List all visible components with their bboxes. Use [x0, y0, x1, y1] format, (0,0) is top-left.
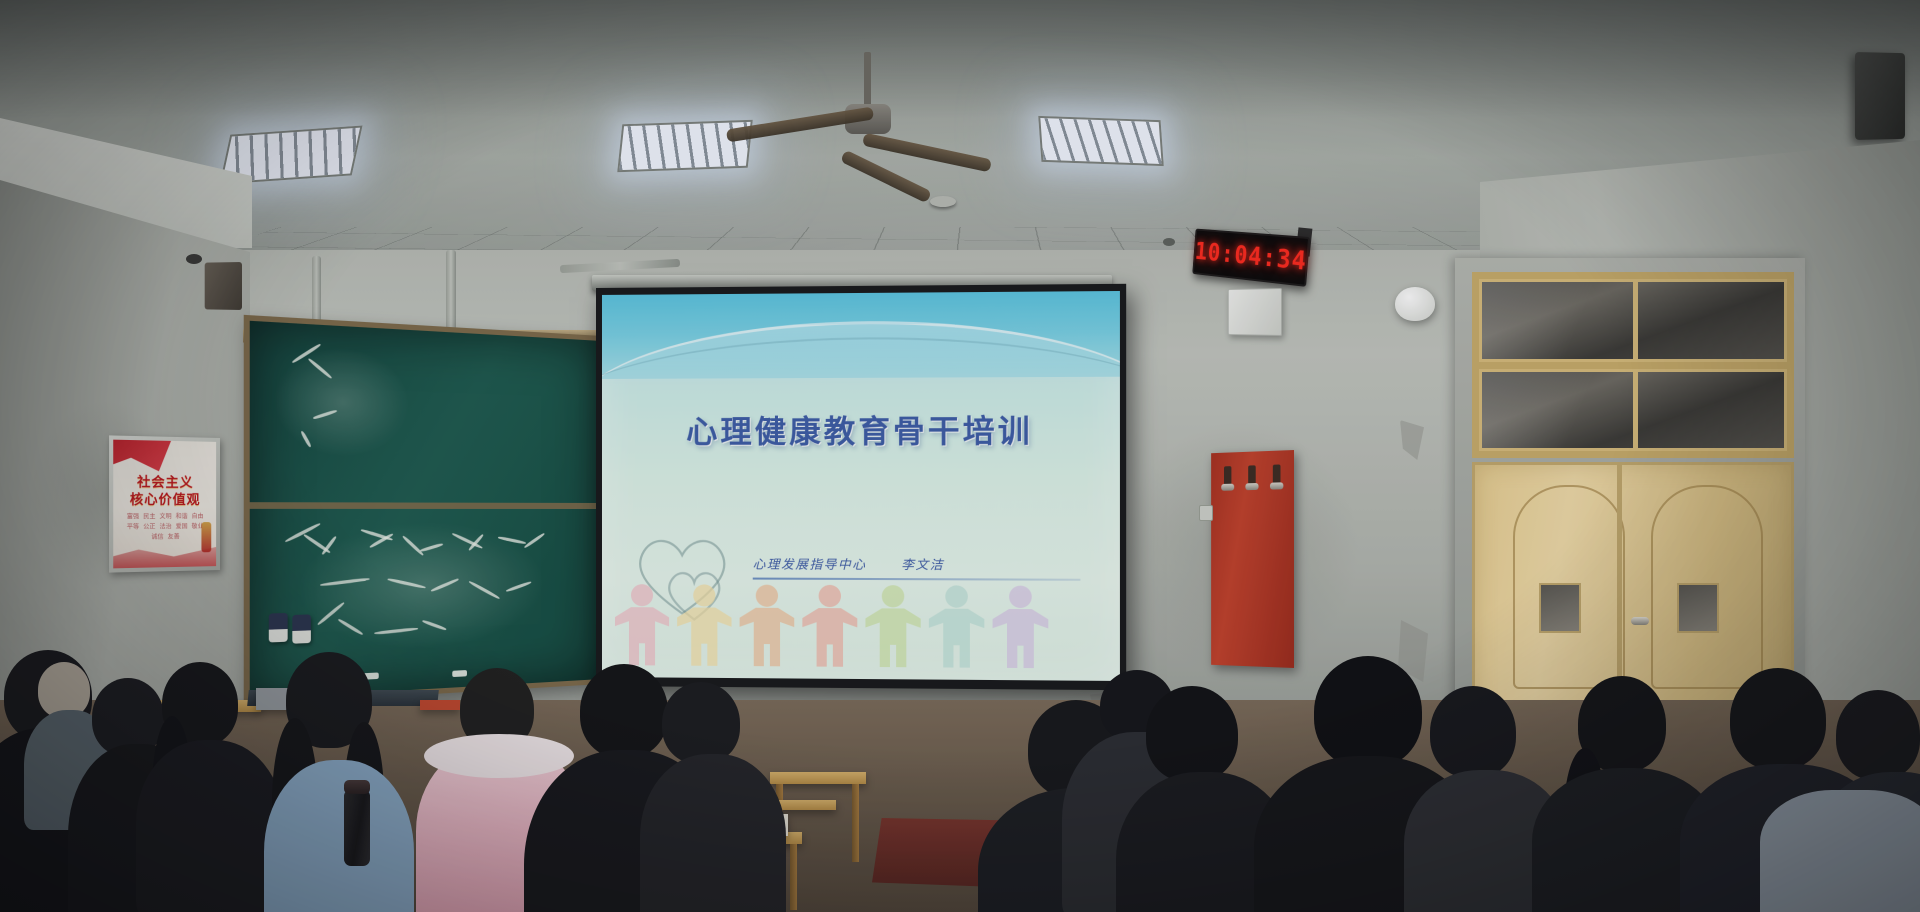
paper-doll — [612, 581, 672, 674]
paper-doll — [799, 582, 860, 675]
paper-doll — [737, 582, 798, 675]
blackboard-divider — [250, 502, 597, 509]
wall-control-box — [1228, 288, 1282, 336]
wall-sconce-light — [1395, 287, 1435, 321]
chalk-eraser — [292, 614, 311, 643]
chalk-stick — [452, 670, 467, 677]
poster-value: 诚信 — [151, 532, 163, 541]
slide-subtitle-row: 心理发展指导中心 李文洁 — [753, 553, 1091, 573]
coat-rack — [1211, 450, 1294, 668]
paper-doll — [926, 582, 988, 676]
slide-organization: 心理发展指导中心 — [753, 553, 867, 573]
blackboard — [244, 315, 602, 705]
clock-time: 10:04:34 — [1194, 238, 1308, 277]
slide-presenter: 李文洁 — [901, 554, 944, 573]
door-window-left — [1539, 583, 1581, 633]
coat-hook-icon — [1224, 466, 1231, 488]
door-transom-window — [1472, 272, 1794, 458]
coat-hook-icon — [1273, 464, 1281, 486]
poster-value: 民主 — [143, 512, 155, 521]
poster-value: 平等 — [127, 522, 139, 531]
poster-tassel-icon — [201, 522, 211, 552]
poster-value: 友善 — [168, 532, 180, 541]
smoke-detector-icon — [930, 196, 956, 207]
poster-value: 法治 — [160, 522, 172, 531]
ceiling-light-3 — [1038, 116, 1164, 166]
paper-doll — [862, 582, 923, 675]
wall-speaker-right — [1855, 52, 1905, 140]
poster-line-2: 核心价值观 — [113, 489, 216, 509]
desk-item — [420, 700, 460, 710]
bottle-cap — [344, 780, 370, 794]
desk-leg — [852, 784, 859, 862]
poster-value: 文明 — [160, 512, 172, 521]
chalk-eraser — [269, 613, 288, 643]
transom-pane-lower — [1479, 369, 1787, 452]
wall-speaker-left — [205, 262, 242, 310]
desk-leg — [790, 844, 797, 910]
door-handle[interactable] — [1631, 617, 1649, 625]
paper-doll — [674, 581, 734, 674]
water-bottle — [344, 790, 370, 866]
poster-value: 自由 — [192, 511, 204, 520]
door-window-right — [1677, 583, 1719, 633]
poster-value: 公正 — [143, 522, 155, 531]
wall-socket-icon — [1199, 505, 1213, 521]
poster-value: 和谐 — [176, 512, 188, 521]
ceiling-fan-rod — [864, 52, 871, 110]
presentation-slide: 心理健康教育骨干培训 心理发展指导中心 李文洁 — [602, 291, 1120, 681]
desk — [770, 772, 866, 784]
ceiling-fixture-dot — [1163, 238, 1175, 246]
paper-doll — [989, 582, 1051, 676]
socialist-values-poster: 社会主义 核心价值观 富强 民主 文明 和谐 自由 平等 公正 法治 爱国 敬业… — [109, 435, 220, 572]
slide-title: 心理健康教育骨干培训 — [602, 405, 1120, 452]
poster-ribbon-icon — [113, 440, 172, 472]
projection-screen: 心理健康教育骨干培训 心理发展指导中心 李文洁 — [596, 284, 1126, 690]
camera-icon — [186, 254, 202, 264]
coat-hook-icon — [1248, 465, 1256, 487]
paper-doll-chain-icon — [612, 577, 1120, 677]
transom-pane-upper — [1479, 279, 1787, 362]
classroom-photo: 社会主义 核心价值观 富强 民主 文明 和谐 自由 平等 公正 法治 爱国 敬业… — [0, 0, 1920, 912]
poster-value: 富强 — [127, 512, 139, 521]
poster-value: 爱国 — [176, 522, 188, 531]
